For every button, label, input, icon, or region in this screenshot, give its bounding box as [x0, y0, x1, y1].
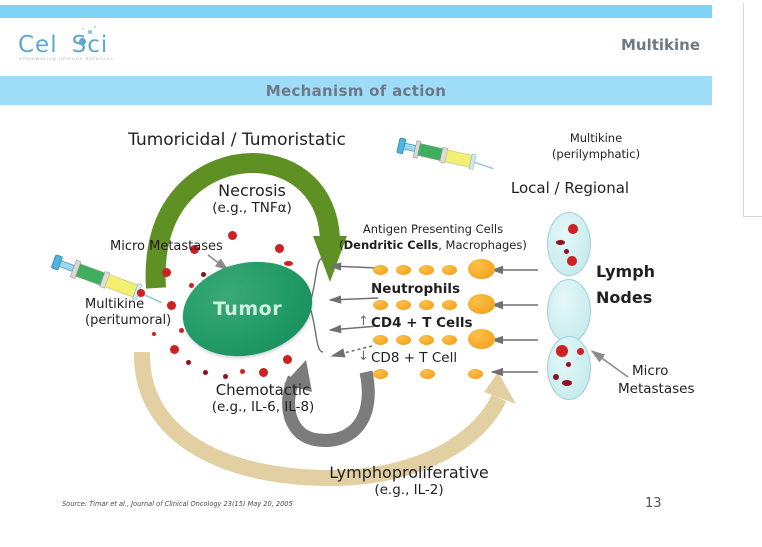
micro-metastases-right-line2: Metastases — [618, 381, 695, 397]
immune-cell — [373, 335, 388, 345]
apc-label-line1: Antigen Presenting Cells — [363, 222, 503, 236]
immune-cell-large — [468, 329, 495, 349]
immune-cell — [419, 265, 434, 275]
source-citation: Source: Timar et al., Journal of Clinica… — [62, 500, 293, 508]
necrosis-label-line2: (e.g., TNFα) — [212, 200, 292, 216]
node-metastasis-dot — [562, 380, 572, 386]
metastasis-dot — [283, 355, 292, 364]
metastasis-dot — [137, 289, 145, 297]
lymph-node-middle — [547, 279, 591, 343]
multikine-peritumoral-line1: Multikine — [85, 297, 144, 312]
necrosis-label-line1: Necrosis — [218, 181, 286, 200]
immune-cell — [420, 369, 435, 379]
immune-cell-large — [468, 294, 495, 314]
immune-cell — [373, 369, 388, 379]
metastasis-dot — [179, 328, 184, 333]
lymphoproliferative-line1: Lymphoproliferative — [329, 463, 489, 482]
micro-metastases-right-line1: Micro — [632, 363, 668, 379]
cell-row-label-0: Neutrophils — [371, 281, 460, 297]
metastasis-dot — [170, 345, 179, 354]
immune-cell-large — [468, 259, 495, 279]
metastasis-dot — [162, 268, 171, 277]
lymph-node-bottom — [547, 336, 591, 400]
cd8-down-arrow-icon: ↓ — [358, 349, 369, 364]
lymphoproliferative-line2: (e.g., IL-2) — [374, 482, 443, 498]
lymphoproliferative-tan-arrow — [142, 352, 516, 478]
immune-cell — [396, 265, 411, 275]
apc-macrophages: , Macrophages) — [438, 238, 527, 252]
node-metastasis-dot — [567, 256, 577, 266]
metastasis-dot — [201, 272, 206, 277]
node-metastasis-dot — [577, 348, 584, 355]
apc-label-line2: (Dendritic Cells, Macrophages) — [339, 238, 527, 252]
lymph-node-output-arrows — [492, 270, 538, 372]
immune-cell — [442, 265, 457, 275]
metastasis-dot — [186, 360, 191, 365]
node-metastasis-dot — [566, 362, 571, 367]
metastasis-dot — [240, 369, 245, 374]
immune-cell — [419, 300, 434, 310]
apc-dendritic-cells: Dendritic Cells — [344, 238, 439, 252]
apc-signal-arrows — [330, 266, 378, 356]
metastasis-dot — [167, 301, 176, 310]
micro-metastases-left-label: Micro Metastases — [110, 239, 223, 254]
immune-cell — [442, 300, 457, 310]
metastasis-dot — [228, 231, 237, 240]
node-metastasis-dot — [564, 249, 569, 254]
metastasis-dot — [203, 370, 208, 375]
lymph-node-top — [547, 212, 591, 276]
immune-cell — [373, 265, 388, 275]
lymph-nodes-line1: Lymph — [596, 262, 655, 281]
immune-cell — [396, 335, 411, 345]
metastasis-dot — [189, 283, 194, 288]
metastasis-dot — [275, 244, 284, 253]
immune-cell — [442, 335, 457, 345]
immune-cell — [396, 300, 411, 310]
cd4-up-arrow-icon: ↑ — [358, 314, 369, 329]
immune-cell — [373, 300, 388, 310]
syringe-perilymphatic-icon — [397, 137, 496, 176]
chemotactic-line2: (e.g., IL-6, IL-8) — [212, 399, 315, 415]
node-metastasis-dot — [553, 374, 559, 380]
immune-cell — [468, 369, 483, 379]
lymph-nodes-line2: Nodes — [596, 288, 652, 307]
node-metastasis-dot — [568, 224, 578, 234]
micro-metastases-right-pointer — [592, 351, 628, 377]
cell-row-label-2: CD8 + T Cell — [371, 350, 457, 366]
multikine-perilymphatic-line2: (perilymphatic) — [552, 147, 640, 161]
metastasis-dot — [284, 261, 293, 266]
immune-cell — [419, 335, 434, 345]
metastasis-dot — [152, 332, 156, 336]
tumor-shape: Tumor — [173, 249, 321, 368]
node-metastasis-dot — [556, 240, 565, 245]
chemotactic-line1: Chemotactic — [216, 381, 311, 399]
metastasis-dot — [259, 368, 268, 377]
metastasis-dot — [223, 374, 228, 379]
multikine-perilymphatic-line1: Multikine — [570, 131, 622, 145]
page-number: 13 — [645, 496, 662, 511]
local-regional-label: Local / Regional — [511, 179, 629, 197]
tumoricidal-title: Tumoricidal / Tumoristatic — [128, 130, 346, 150]
node-metastasis-dot — [556, 345, 568, 357]
cell-row-label-1: CD4 + T Cells — [371, 315, 472, 331]
multikine-peritumoral-line2: (peritumoral) — [85, 313, 171, 328]
slide-canvas: CelSci empowering immune defenses Multik… — [0, 0, 762, 547]
